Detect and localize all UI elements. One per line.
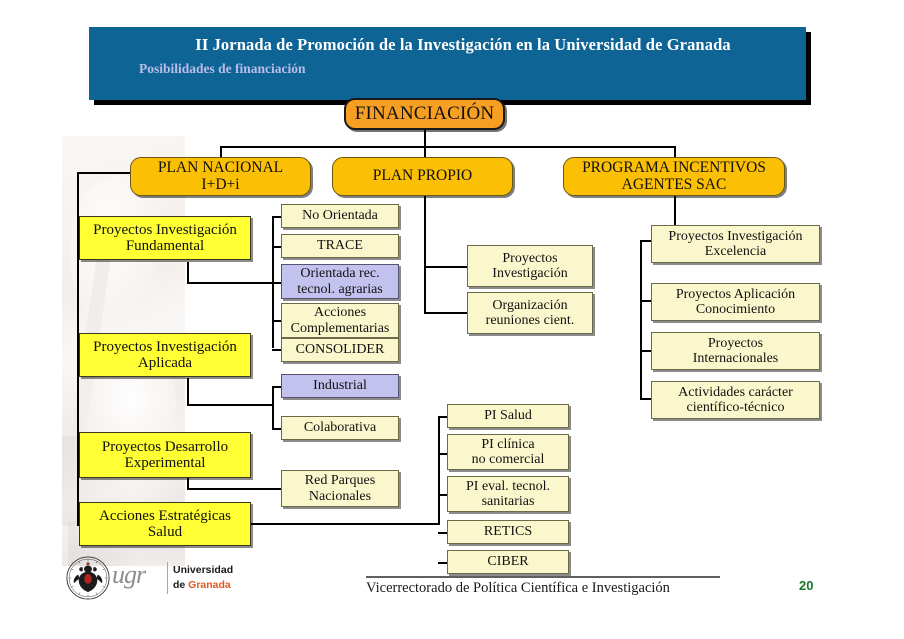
node-programa-incentivos[interactable]: PROGRAMA INCENTIVOS AGENTES SAC: [563, 157, 785, 196]
node-industrial[interactable]: Industrial: [281, 374, 399, 398]
node-proyectos-aplicacion-conocimiento[interactable]: Proyectos Aplicación Conocimiento: [651, 283, 820, 321]
node-retics[interactable]: RETICS: [447, 520, 569, 544]
node-proyectos-internacionales[interactable]: Proyectos Internacionales: [651, 332, 820, 370]
logo-universidad-label: Universidad: [173, 564, 233, 576]
connector-pp-to-proyectos: [424, 266, 468, 268]
node-programa-incentivos-line1: PROGRAMA INCENTIVOS: [582, 160, 766, 177]
connector-desarrollo-to-red-parques: [187, 488, 282, 490]
node-ciber[interactable]: CIBER: [447, 550, 569, 574]
page-subtitle: Posibilidades de financiación: [139, 61, 306, 77]
ugr-wordmark: ugr: [112, 560, 145, 590]
connector-aplicada-leaf-spine: [272, 386, 274, 430]
node-pi-eval-tecnol-sanitarias[interactable]: PI eval. tecnol. sanitarias: [447, 476, 569, 512]
node-acciones-compl-line2: Complementarias: [291, 321, 390, 336]
node-organizacion-line1: Organización: [492, 298, 567, 313]
node-pi-salud[interactable]: PI Salud: [447, 404, 569, 428]
node-financiacion-label: FINANCIACIÓN: [355, 104, 495, 125]
node-no-orientada-label: No Orientada: [302, 208, 378, 223]
node-red-parques-line2: Nacionales: [309, 489, 371, 504]
node-orientada-line1: Orientada rec.: [300, 266, 379, 281]
node-proyectos-investigacion-fundamental[interactable]: Proyectos Investigación Fundamental: [79, 216, 251, 260]
node-excelencia-line2: Excelencia: [705, 244, 766, 259]
ugr-eagle-seal-icon: [66, 556, 110, 600]
node-organizacion-line2: reuniones cient.: [486, 313, 575, 328]
node-excelencia-line1: Proyectos Investigación: [668, 229, 802, 244]
node-ciber-label: CIBER: [487, 554, 528, 569]
connector-aplicada-down: [187, 378, 189, 406]
node-plan-nacional[interactable]: PLAN NACIONAL I+D+i: [130, 157, 311, 196]
node-internacionales-line1: Proyectos: [708, 336, 763, 351]
header-banner: II Jornada de Promoción de la Investigac…: [89, 27, 806, 100]
node-aplicada-line1: Proyectos Investigación: [93, 339, 237, 355]
page-title: II Jornada de Promoción de la Investigac…: [133, 35, 793, 55]
node-orientada-rec-tecnol-agrarias[interactable]: Orientada rec. tecnol. agrarias: [281, 264, 399, 299]
node-pi-clinica-no-comercial[interactable]: PI clínica no comercial: [447, 434, 569, 470]
logo-granada-highlight: Granada: [188, 579, 231, 591]
node-aplicada-line2: Aplicada: [138, 355, 192, 371]
connector-pi-spine: [640, 240, 642, 400]
logo-granada-label: de Granada: [173, 579, 231, 591]
node-acciones-salud-line1: Acciones Estratégicas: [99, 508, 231, 524]
node-red-parques-nacionales[interactable]: Red Parques Nacionales: [281, 470, 399, 507]
connector-pp-down: [424, 196, 426, 266]
logo-de-label: de: [173, 579, 188, 591]
node-proyectos-inv-line1: Proyectos: [502, 251, 557, 266]
node-desarrollo-line1: Proyectos Desarrollo: [102, 439, 228, 455]
node-industrial-label: Industrial: [313, 378, 367, 393]
connector-root-bus: [220, 146, 676, 148]
node-acciones-estrategicas-salud[interactable]: Acciones Estratégicas Salud: [79, 502, 251, 546]
node-plan-nacional-line1: PLAN NACIONAL: [158, 160, 283, 177]
slide-canvas: II Jornada de Promoción de la Investigac…: [0, 0, 904, 639]
node-proyectos-investigacion[interactable]: Proyectos Investigación: [467, 245, 593, 287]
node-proyectos-investigacion-excelencia[interactable]: Proyectos Investigación Excelencia: [651, 225, 820, 263]
footer-text: Vicerrectorado de Política Científica e …: [366, 580, 670, 597]
node-retics-label: RETICS: [484, 524, 532, 539]
node-no-orientada[interactable]: No Orientada: [281, 204, 399, 228]
node-colaborativa-label: Colaborativa: [304, 420, 376, 435]
node-proyectos-investigacion-aplicada[interactable]: Proyectos Investigación Aplicada: [79, 333, 251, 377]
node-proyectos-desarrollo-experimental[interactable]: Proyectos Desarrollo Experimental: [79, 432, 251, 478]
connector-fundamental-right: [187, 282, 274, 284]
node-actividades-line2: científico-técnico: [687, 400, 785, 415]
connector-fundamental-down: [187, 262, 189, 284]
node-plan-nacional-line2: I+D+i: [201, 177, 239, 194]
node-aplicacion-line2: Conocimiento: [696, 302, 775, 317]
node-orientada-line2: tecnol. agrarias: [297, 282, 383, 297]
footer-divider: [366, 576, 720, 578]
node-financiacion[interactable]: FINANCIACIÓN: [344, 98, 505, 130]
node-pi-clinica-line2: no comercial: [472, 452, 545, 467]
logo-divider: [167, 562, 168, 594]
connector-pp-spine: [424, 266, 426, 313]
node-plan-propio[interactable]: PLAN PROPIO: [332, 157, 513, 196]
node-programa-incentivos-line2: AGENTES SAC: [622, 177, 727, 194]
node-pi-salud-label: PI Salud: [484, 408, 532, 423]
node-fundamental-line1: Proyectos Investigación: [93, 222, 237, 238]
node-desarrollo-line2: Experimental: [125, 455, 206, 471]
node-pi-eval-line1: PI eval. tecnol.: [466, 479, 550, 494]
node-colaborativa[interactable]: Colaborativa: [281, 416, 399, 440]
node-internacionales-line2: Internacionales: [693, 351, 779, 366]
page-number: 20: [799, 578, 813, 593]
node-organizacion-reuniones-cient[interactable]: Organización reuniones cient.: [467, 292, 593, 334]
node-acciones-complementarias[interactable]: Acciones Complementarias: [281, 303, 399, 338]
node-red-parques-line1: Red Parques: [305, 473, 375, 488]
node-fundamental-line2: Fundamental: [126, 238, 204, 254]
node-pi-eval-line2: sanitarias: [482, 494, 535, 509]
node-plan-propio-label: PLAN PROPIO: [373, 168, 472, 185]
node-consolider-label: CONSOLIDER: [296, 342, 385, 357]
connector-pp-to-organizacion: [424, 312, 468, 314]
node-actividades-line1: Actividades carácter: [678, 385, 793, 400]
node-pi-clinica-line1: PI clínica: [481, 437, 534, 452]
connector-aplicada-right: [187, 404, 274, 406]
node-actividades-caracter-cientifico-tecnico[interactable]: Actividades carácter científico-técnico: [651, 381, 820, 419]
node-consolider[interactable]: CONSOLIDER: [281, 338, 399, 362]
node-acciones-salud-line2: Salud: [148, 524, 182, 540]
node-proyectos-inv-line2: Investigación: [492, 266, 567, 281]
ugr-logo: ugr Universidad de Granada: [66, 556, 241, 602]
node-trace[interactable]: TRACE: [281, 234, 399, 258]
connector-salud-right: [250, 523, 440, 525]
node-aplicacion-line1: Proyectos Aplicación: [676, 287, 795, 302]
node-acciones-compl-line1: Acciones: [314, 305, 366, 320]
node-trace-label: TRACE: [317, 238, 363, 253]
connector-salud-leaf-spine: [438, 416, 440, 525]
